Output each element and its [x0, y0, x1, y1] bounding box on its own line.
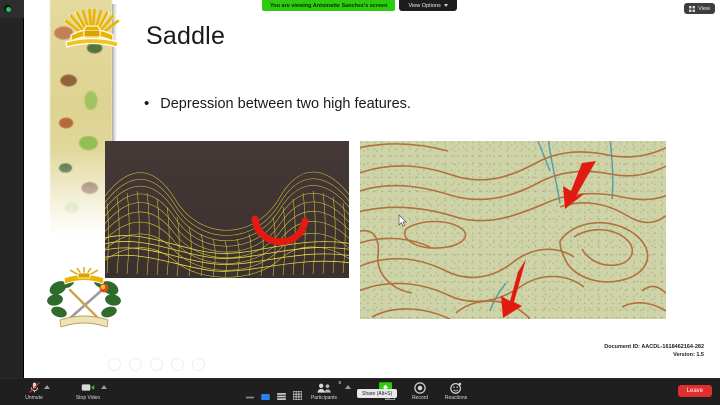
- page-list-icon[interactable]: [277, 387, 286, 405]
- saddle-arrow-markers: [501, 161, 596, 318]
- figure-3d-wireframe-saddle: [105, 141, 349, 278]
- presentation-slide: Saddle • Depression between two high fea…: [24, 0, 720, 378]
- footer-circle-icon: [129, 358, 142, 371]
- participants-label: Participants: [311, 395, 337, 401]
- zoom-meeting-window: Saddle • Depression between two high fea…: [0, 0, 720, 405]
- contour-map-graphic: [360, 141, 666, 319]
- stop-video-label: Stop Video: [76, 395, 100, 401]
- reactions-icon: [450, 381, 462, 394]
- page-prev-icon[interactable]: [246, 387, 254, 405]
- record-icon: [414, 381, 426, 394]
- footer-circle-icon: [192, 358, 205, 371]
- view-button-label: View: [698, 6, 710, 12]
- shared-screen-stage: Saddle • Depression between two high fea…: [0, 0, 720, 378]
- share-screen-tooltip: Share (Alt+S): [357, 389, 397, 398]
- slide-bullet-item: • Depression between two high features.: [144, 96, 411, 112]
- bullet-text: Depression between two high features.: [160, 96, 411, 112]
- participants-count-badge: 8: [338, 380, 341, 385]
- page-current-icon[interactable]: [261, 387, 270, 405]
- slide-footer-document-info: Document ID: AACDL-1618462164-282 Versio…: [604, 343, 704, 360]
- screen-share-banner: You are viewing Antoinette Sanchez's scr…: [262, 0, 457, 11]
- saddle-annotation-curve: [255, 219, 305, 242]
- view-layout-button[interactable]: View: [684, 3, 715, 14]
- video-options-caret-icon[interactable]: [101, 385, 107, 389]
- camera-icon: [81, 381, 95, 394]
- reactions-label: Reactions: [445, 395, 467, 401]
- slide-title: Saddle: [146, 22, 225, 51]
- record-label: Record: [412, 395, 428, 401]
- leave-meeting-button[interactable]: Leave: [678, 385, 712, 397]
- figure-topographic-contour-map: [360, 141, 666, 319]
- mic-active-dot-icon: [3, 4, 12, 13]
- footer-circle-icon: [108, 358, 121, 371]
- slide-footer-icons: [108, 358, 205, 371]
- participants-icon: [317, 381, 332, 394]
- document-id-text: Document ID: AACDL-1618462164-282: [604, 343, 704, 352]
- toolbar-reactions-button[interactable]: Reactions: [428, 381, 484, 401]
- microphone-muted-icon: [28, 381, 41, 394]
- footer-circle-icon: [171, 358, 184, 371]
- participants-options-caret-icon[interactable]: [345, 385, 351, 389]
- wireframe-mesh-graphic: [105, 141, 349, 278]
- toolbar-participants-button[interactable]: 8 Participants: [296, 381, 352, 401]
- chevron-down-icon: [444, 4, 448, 7]
- unmute-label: Unmute: [25, 395, 43, 401]
- view-options-label: View Options: [408, 3, 440, 9]
- share-banner-message: You are viewing Antoinette Sanchez's scr…: [262, 0, 395, 11]
- rising-sun-badge-icon: [58, 8, 126, 50]
- footer-circle-icon: [150, 358, 163, 371]
- participant-video-strip[interactable]: [0, 0, 24, 378]
- grid-view-icon: [689, 6, 695, 12]
- view-options-button[interactable]: View Options: [399, 0, 456, 11]
- toolbar-unmute-button[interactable]: Unmute: [6, 381, 62, 401]
- toolbar-stop-video-button[interactable]: Stop Video: [60, 381, 116, 401]
- self-video-tile[interactable]: [0, 0, 24, 18]
- bullet-marker: •: [144, 96, 149, 111]
- version-text: Version: 1.5: [604, 351, 704, 360]
- mouse-cursor-icon: [398, 214, 407, 227]
- unmute-options-caret-icon[interactable]: [44, 385, 50, 389]
